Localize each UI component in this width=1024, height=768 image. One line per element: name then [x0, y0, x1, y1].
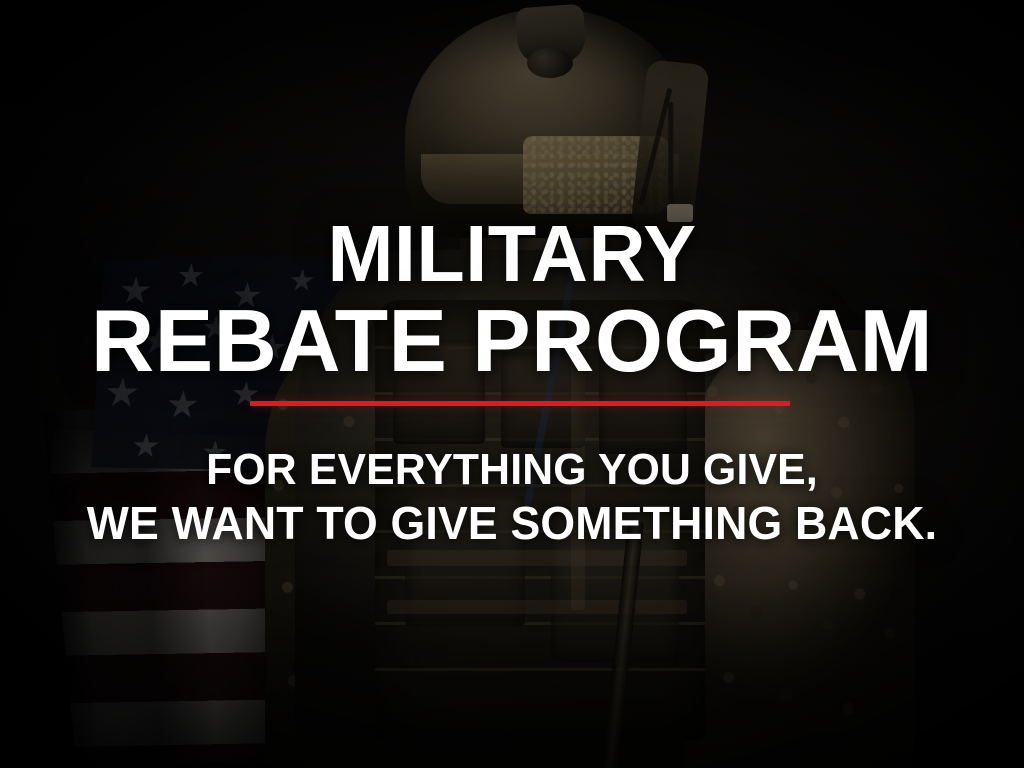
subheadline-line-2: WE WANT TO GIVE SOMETHING BACK.	[15, 498, 1008, 550]
red-divider-rule	[250, 401, 790, 406]
headline-line-2: REBATE PROGRAM	[3, 299, 1022, 383]
poster-content: MILITARY REBATE PROGRAM FOR EVERYTHING Y…	[0, 0, 1024, 768]
subheadline-line-1: FOR EVERYTHING YOU GIVE,	[15, 445, 1008, 494]
military-rebate-poster: MILITARY REBATE PROGRAM FOR EVERYTHING Y…	[0, 0, 1024, 768]
headline-line-1: MILITARY	[5, 216, 1019, 293]
